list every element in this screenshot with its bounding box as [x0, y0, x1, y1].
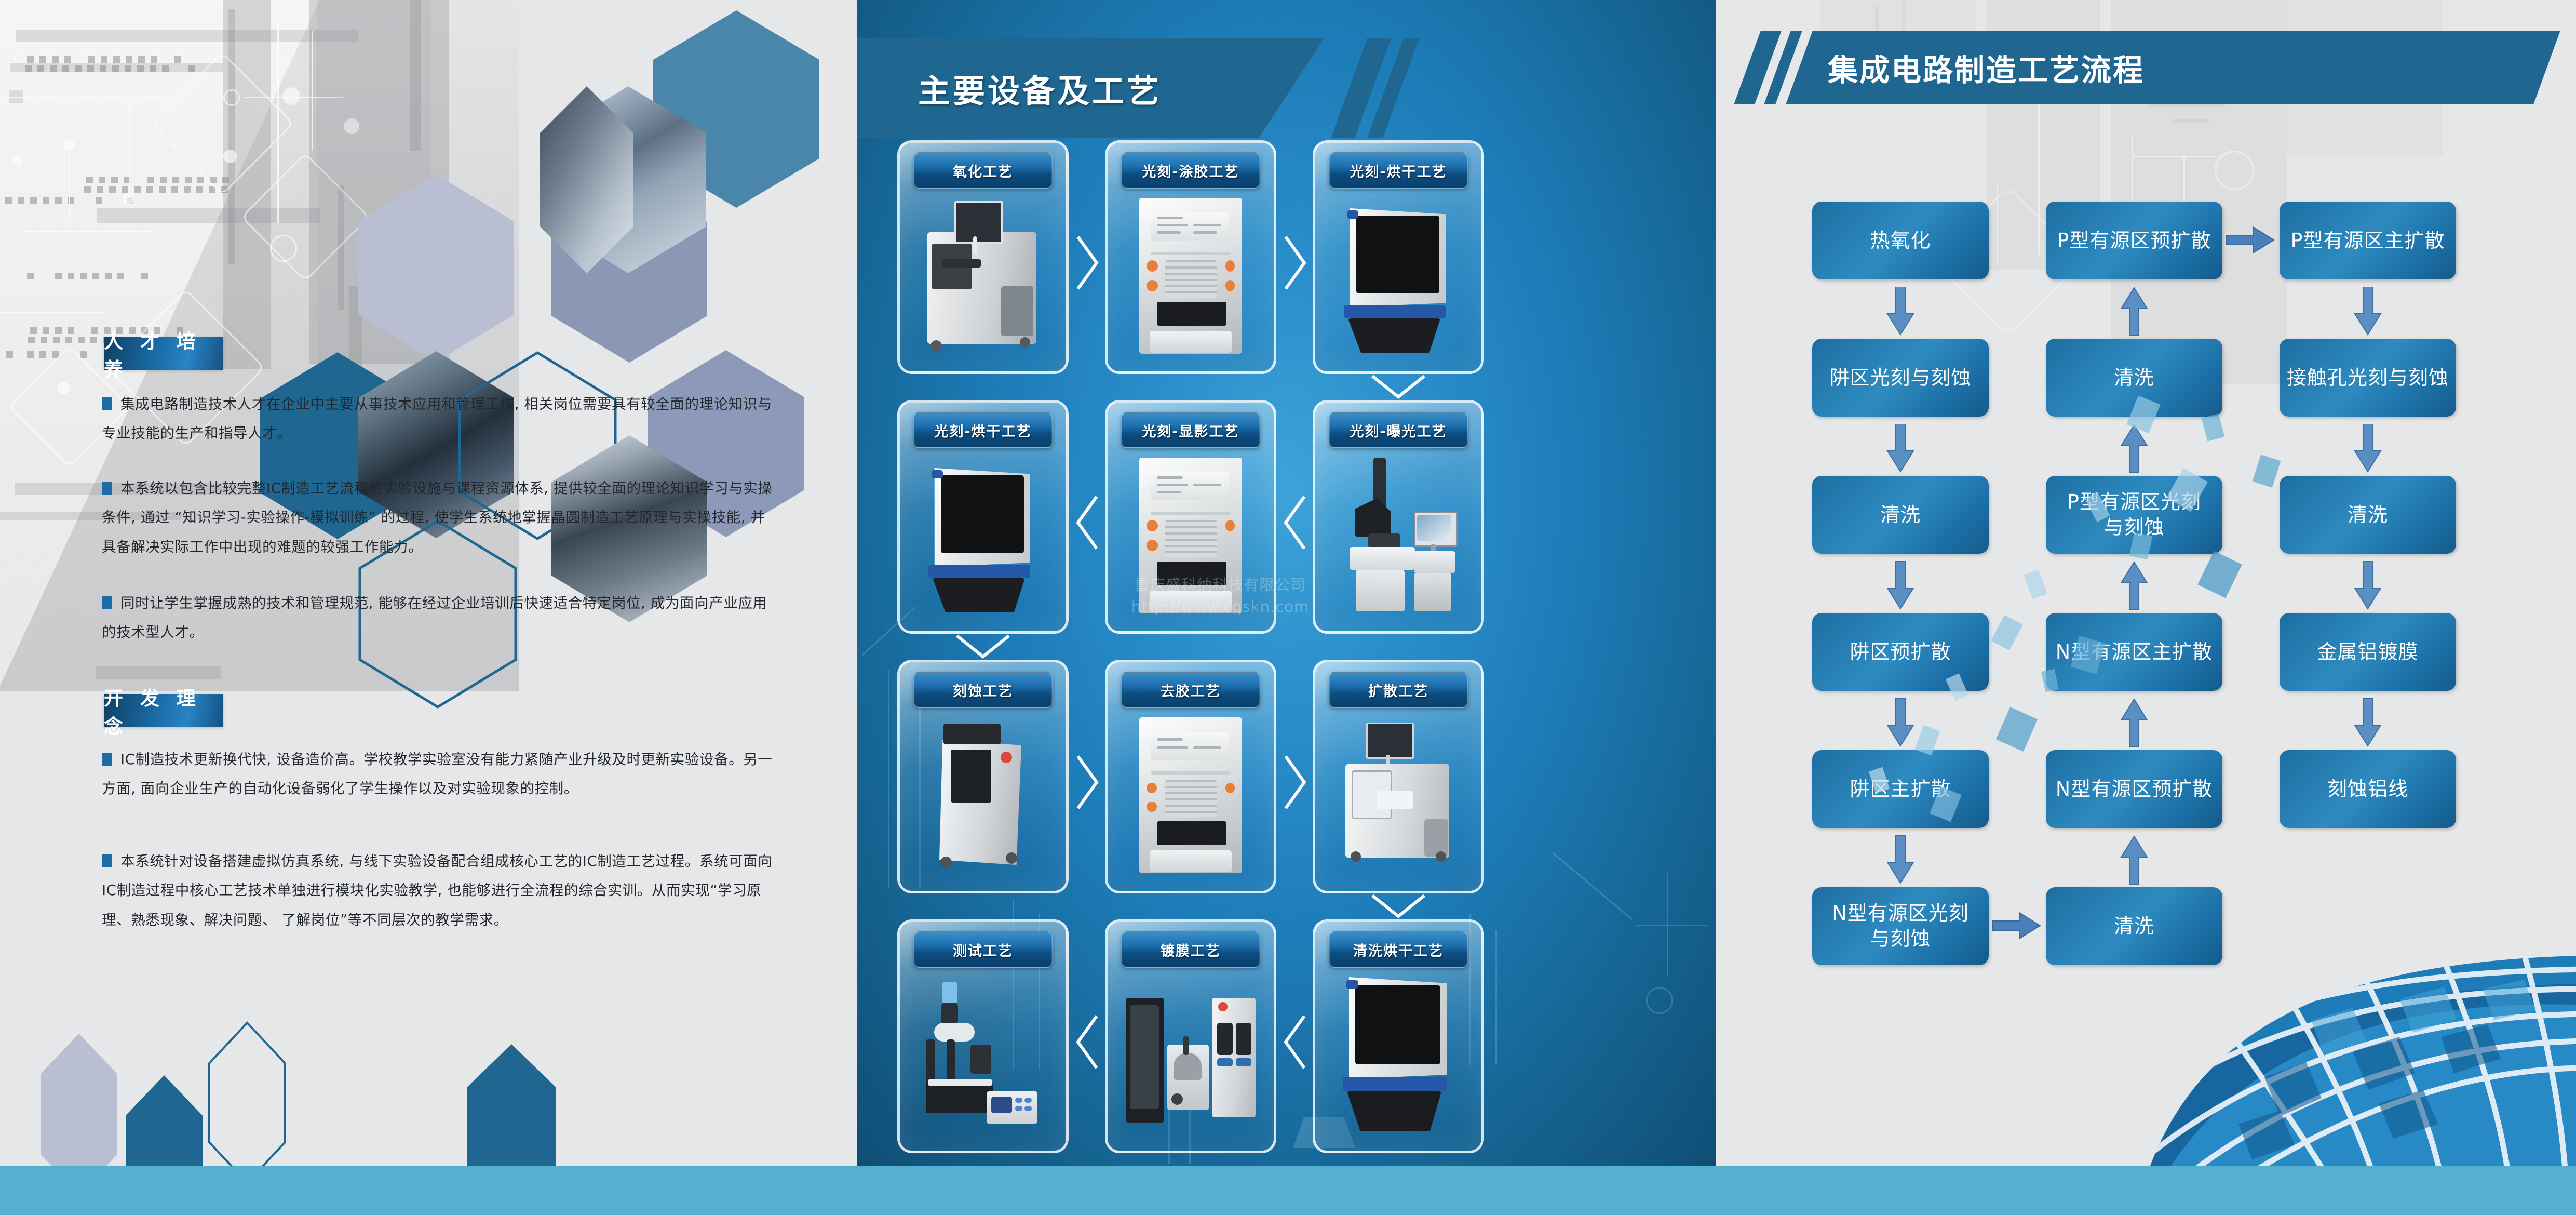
middle-title-text: 主要设备及工艺 [918, 65, 1162, 112]
equipment-card-1[interactable]: 氧化工艺 [897, 140, 1069, 374]
equipment-card-8[interactable]: 去胶工艺 [1105, 660, 1276, 893]
machine-resist-strip-hood [1139, 717, 1242, 873]
flow-node-c2r1[interactable]: P型有源区预扩散 [2046, 202, 2222, 279]
equipment-card-7-label: 刻蚀工艺 [913, 672, 1053, 708]
shard-cluster-decoration [1841, 395, 2412, 1070]
machine-etcher [931, 717, 1035, 873]
machine-developer-hood [1139, 458, 1242, 613]
bullet-marker [102, 482, 112, 495]
equipment-card-3[interactable]: 光刻-烘干工艺 [1313, 140, 1484, 374]
equipment-card-11[interactable]: 镀膜工艺 [1105, 919, 1276, 1153]
equipment-card-2[interactable]: 光刻-涂胶工艺 [1105, 140, 1276, 374]
paragraph-text: 同时让学生掌握成熟的技术和管理规范, 能够在经过企业培训后快速适合特定岗位, 成… [102, 595, 767, 640]
chevron-right-r3c2-c3 [1282, 752, 1309, 812]
equipment-card-5[interactable]: 光刻-显影工艺 [1105, 400, 1276, 634]
left-panel: 人 才 培 养 集成电路制造技术人才在企业中主要从事技术应用和管理工作, 相关岗… [0, 0, 857, 1215]
paragraph-talent-3: 同时让学生掌握成熟的技术和管理规范, 能够在经过企业培训后快速适合特定岗位, 成… [102, 589, 774, 647]
chevron-left-r4c2-c1 [1074, 1012, 1101, 1072]
machine-bake-oven [1344, 203, 1453, 354]
equipment-card-9[interactable]: 扩散工艺 [1313, 660, 1484, 893]
equipment-card-1-label: 氧化工艺 [913, 152, 1053, 189]
chevron-right-r1c1-c2 [1074, 233, 1101, 293]
machine-photoresist-coating-hood [1139, 198, 1242, 354]
arrow-up-c2r2-c2r1 [2119, 287, 2150, 337]
hexagon-solid-gray [358, 175, 514, 362]
title-slash-decoration [1345, 38, 1412, 138]
hexagon-bottom-outline [208, 1021, 287, 1184]
section-tag-talent-label: 人 才 培 养 [104, 326, 223, 382]
middle-title-banner: 主要设备及工艺 [857, 38, 1324, 138]
middle-panel: 主要设备及工艺 氧化工艺 光刻-涂胶工艺 [857, 0, 1716, 1166]
paragraph-text: 集成电路制造技术人才在企业中主要从事技术应用和管理工作, 相关岗位需要具有较全面… [102, 396, 772, 442]
hexagon-photo-people-overlay [540, 86, 633, 273]
machine-mask-aligner [1336, 458, 1461, 613]
equipment-card-2-label: 光刻-涂胶工艺 [1121, 152, 1261, 189]
poster-root: 人 才 培 养 集成电路制造技术人才在企业中主要从事技术应用和管理工作, 相关岗… [0, 0, 2576, 1215]
chevron-down-r3c3-r4c3 [1368, 892, 1428, 923]
machine-probe-station [921, 982, 1045, 1133]
equipment-card-3-label: 光刻-烘干工艺 [1329, 152, 1468, 189]
equipment-card-10-label: 测试工艺 [913, 931, 1053, 968]
equipment-card-5-label: 光刻-显影工艺 [1121, 412, 1261, 448]
chevron-down-r2c1-r3c1 [953, 633, 1013, 663]
arrow-right-c2r1-c3r1 [2226, 224, 2276, 256]
right-header-title: 集成电路制造工艺流程 [1828, 31, 2555, 104]
flow-node-c1r1[interactable]: 热氧化 [1812, 202, 1989, 279]
equipment-card-12-label: 清洗烘干工艺 [1329, 931, 1468, 968]
paragraph-philosophy-2: 本系统针对设备搭建虚拟仿真系统, 与线下实验设备配合组成核心工艺的IC制造工艺过… [102, 847, 774, 934]
equipment-card-11-label: 镀膜工艺 [1121, 931, 1261, 968]
arrow-down-c1r1-c1r2 [1885, 287, 1916, 337]
chevron-right-r3c1-c2 [1074, 752, 1101, 812]
arrow-down-c3r1-c3r2 [2352, 287, 2383, 337]
equipment-card-9-label: 扩散工艺 [1329, 672, 1468, 708]
machine-oxidation-furnace [923, 198, 1043, 354]
equipment-card-4-label: 光刻-烘干工艺 [913, 412, 1053, 448]
right-panel: 集成电路制造工艺流程 热氧化 阱区光刻与刻蚀 清洗 阱区预扩散 阱区主扩散 N型… [1716, 0, 2576, 1215]
bullet-marker [102, 753, 112, 766]
paragraph-philosophy-1: IC制造技术更新换代快, 设备造价高。学校教学实验室没有能力紧随产业升级及时更新… [102, 745, 774, 804]
bullet-marker [102, 854, 112, 867]
equipment-card-4[interactable]: 光刻-烘干工艺 [897, 400, 1069, 634]
paragraph-talent-2: 本系统以包含比较完整IC制造工艺流程的实验设施与课程资源体系, 提供较全面的理论… [102, 474, 774, 562]
machine-coating-system [1126, 993, 1256, 1133]
machine-clean-dry-station [1343, 977, 1454, 1133]
flow-node-c3r1[interactable]: P型有源区主扩散 [2280, 202, 2456, 279]
paragraph-text: 本系统针对设备搭建虚拟仿真系统, 与线下实验设备配合组成核心工艺的IC制造工艺过… [102, 853, 773, 928]
equipment-card-6[interactable]: 光刻-曝光工艺 [1313, 400, 1484, 634]
machine-diffusion-furnace [1337, 723, 1460, 873]
section-tag-talent: 人 才 培 养 [104, 337, 223, 370]
equipment-card-7[interactable]: 刻蚀工艺 [897, 660, 1069, 893]
chevron-down-r1c3-r2c3 [1368, 373, 1428, 403]
bullet-marker [102, 397, 112, 410]
section-tag-philosophy: 开 发 理 念 [104, 694, 223, 727]
chevron-left-r2c2-c1 [1074, 492, 1101, 553]
paragraph-text: 本系统以包含比较完整IC制造工艺流程的实验设施与课程资源体系, 提供较全面的理论… [102, 480, 773, 555]
chevron-left-r4c3-c2 [1282, 1012, 1309, 1072]
equipment-card-8-label: 去胶工艺 [1121, 672, 1261, 708]
machine-bake-oven-2 [928, 463, 1037, 613]
equipment-card-10[interactable]: 测试工艺 [897, 919, 1069, 1153]
bottom-accent-bar [0, 1166, 2576, 1215]
bullet-marker [102, 596, 112, 609]
equipment-card-6-label: 光刻-曝光工艺 [1329, 412, 1468, 448]
paragraph-text: IC制造技术更新换代快, 设备造价高。学校教学实验室没有能力紧随产业升级及时更新… [102, 751, 773, 797]
chevron-left-r2c3-c2 [1282, 492, 1309, 553]
section-tag-philosophy-label: 开 发 理 念 [104, 683, 223, 739]
chevron-right-r1c2-c3 [1282, 233, 1309, 293]
paragraph-talent-1: 集成电路制造技术人才在企业中主要从事技术应用和管理工作, 相关岗位需要具有较全面… [102, 390, 774, 448]
equipment-card-12[interactable]: 清洗烘干工艺 [1313, 919, 1484, 1153]
